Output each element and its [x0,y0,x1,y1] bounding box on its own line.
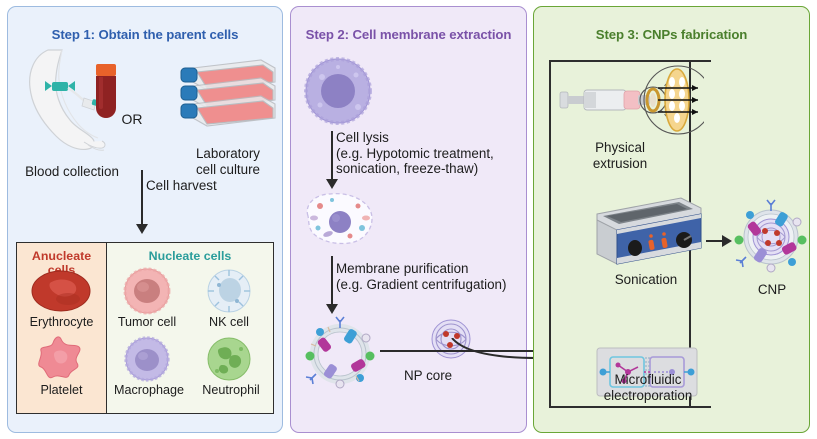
nk-cell-icon [203,267,255,315]
anucleate-cells-column: Anucleate cells Erythrocyte Platelet [17,243,107,413]
nk-cell-label: NK cell [189,315,269,329]
microfluidic-electroporation-label: Microfluidic electroporation [578,372,718,403]
panel-step-3-title: Step 3: CNPs fabrication [534,27,809,42]
cell-lysis-line2: (e.g. Hypotomic treatment, [336,146,494,161]
microfluidic-line2: electroporation [604,388,693,403]
cnp-icon [730,196,812,278]
tumor-cell-label: Tumor cell [107,315,187,329]
purification-line2: (e.g. Gradient centrifugation) [336,277,506,292]
cell-lysis-label: Cell lysis (e.g. Hypotomic treatment, so… [336,130,526,177]
membrane-purification-arrow-icon [331,256,333,308]
physical-line1: Physical [595,140,645,155]
lysed-cell-icon [298,188,380,250]
sonication-label: Sonication [588,272,704,288]
np-core-label: NP core [404,368,484,384]
platelet-icon [33,335,89,383]
panel-step-1-title: Step 1: Obtain the parent cells [8,27,282,42]
arm-venipuncture-icon [14,46,134,154]
intact-cell-icon [300,55,376,127]
panel-step-2-title: Step 2: Cell membrane extraction [291,27,526,42]
platelet-label: Platelet [17,383,106,397]
membrane-purification-label: Membrane purification (e.g. Gradient cen… [336,261,531,292]
bracket-tick-bottom [667,406,689,408]
figure-canvas: Step 1: Obtain the parent cells [0,0,817,439]
cell-harvest-label: Cell harvest [146,178,256,194]
cell-lysis-arrow-icon [331,131,333,183]
cnp-arrow-icon [706,240,726,242]
syringe-extruder-icon [558,62,704,140]
cell-lysis-line3: sonication, freeze-thaw) [336,161,478,176]
macrophage-label: Macrophage [107,383,191,397]
tumor-cell-icon [121,267,173,315]
neutrophil-label: Neutrophil [189,383,273,397]
nucleate-cells-column: Nucleate cells Tumor cell [107,243,273,413]
membrane-vesicle-icon [300,312,380,392]
neutrophil-icon [203,335,255,383]
blood-collection-label: Blood collection [8,164,136,180]
lab-culture-line2: cell culture [196,162,260,177]
culture-flask-stack-icon [175,52,279,142]
cell-lysis-line1: Cell lysis [336,130,389,145]
physical-line2: extrusion [593,156,647,171]
physical-extrusion-label: Physical extrusion [560,140,680,171]
microfluidic-line1: Microfluidic [615,372,682,387]
cell-type-table: Anucleate cells Erythrocyte Platelet Nuc… [16,242,274,414]
macrophage-icon [121,335,173,383]
cnp-label: CNP [736,282,808,298]
erythrocyte-label: Erythrocyte [17,315,106,329]
nucleate-header: Nucleate cells [107,249,273,263]
erythrocyte-icon [30,269,92,313]
cell-harvest-arrow-icon [141,170,143,228]
lab-culture-line1: Laboratory [196,146,260,161]
lab-culture-label: Laboratory cell culture [168,146,288,177]
purification-line1: Membrane purification [336,261,468,276]
ultrasonic-bath-icon [589,192,707,270]
np-core-connector-icon [448,338,540,360]
or-connector-label: OR [110,112,154,128]
